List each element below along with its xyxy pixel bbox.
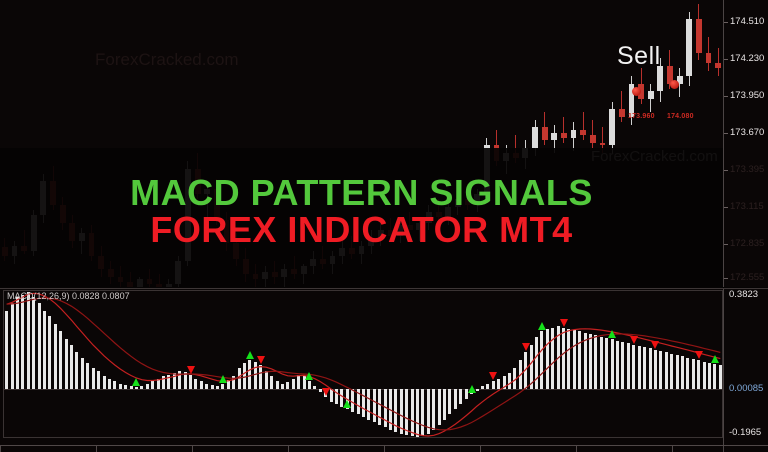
macd-histogram-bar [649, 348, 652, 389]
macd-histogram-bar [546, 329, 549, 389]
macd-histogram-bar [65, 339, 68, 389]
macd-histogram-bar [292, 379, 295, 389]
price-scale-axis[interactable]: 174.510174.230173.950173.670173.395173.1… [723, 0, 768, 287]
candle-body [696, 19, 702, 52]
sell-signal-dot [632, 87, 641, 96]
macd-histogram-bar [557, 326, 560, 389]
sell-signal-dot [670, 80, 679, 89]
time-axis-tick [0, 446, 1, 452]
macd-histogram-bar [513, 368, 516, 389]
macd-histogram-bar [308, 381, 311, 389]
macd-histogram-bar [686, 358, 689, 389]
macd-buy-arrow [305, 372, 313, 380]
macd-histogram-bar [108, 379, 111, 389]
macd-histogram-bar [313, 386, 316, 389]
macd-histogram-bar [162, 376, 165, 389]
time-axis-tick [96, 446, 97, 452]
macd-sell-arrow [630, 336, 638, 344]
macd-histogram-bar [627, 343, 630, 389]
macd-scale-label: -0.1965 [729, 427, 761, 438]
price-tick [724, 170, 728, 171]
candle-wick [592, 120, 593, 148]
macd-histogram-bar [524, 352, 527, 389]
macd-histogram-bar [540, 331, 543, 389]
time-axis-tick [384, 446, 385, 452]
macd-histogram-bar [362, 389, 365, 417]
macd-histogram-bar [92, 368, 95, 389]
macd-sell-arrow [187, 366, 195, 374]
macd-buy-arrow [538, 322, 546, 330]
macd-histogram-bar [594, 335, 597, 389]
macd-histogram-bar [70, 345, 73, 389]
macd-histogram-bar [227, 380, 230, 389]
macd-histogram-bar [584, 333, 587, 389]
macd-buy-arrow [468, 385, 476, 393]
macd-histogram-bar [48, 316, 51, 389]
macd-histogram-bar [616, 341, 619, 389]
macd-histogram-bar [238, 368, 241, 389]
macd-histogram-bar [200, 381, 203, 389]
candle-body [619, 109, 625, 117]
macd-indicator-label: MACD(12,26,9) 0.0828 0.0807 [7, 291, 130, 301]
price-tick [724, 96, 728, 97]
macd-histogram-bar [459, 389, 462, 404]
macd-sell-arrow [257, 356, 265, 364]
macd-histogram-bar [16, 297, 19, 389]
macd-histogram-bar [448, 389, 451, 414]
macd-histogram-bar [378, 389, 381, 425]
macd-histogram-bar [178, 371, 181, 389]
macd-histogram-bar [335, 389, 338, 404]
candle-body [600, 143, 606, 146]
macd-histogram-bar [405, 389, 408, 435]
time-axis [0, 445, 768, 452]
time-axis-tick [576, 446, 577, 452]
macd-histogram-bar [530, 345, 533, 389]
macd-histogram-bar [297, 375, 300, 389]
macd-histogram-bar [621, 342, 624, 389]
macd-histogram-bar [676, 355, 679, 389]
macd-histogram-bar [389, 389, 392, 430]
macd-scale-axis[interactable]: 0.38230.00085-0.1965 [723, 289, 768, 452]
macd-buy-arrow [132, 378, 140, 386]
macd-histogram-bar [211, 385, 214, 389]
macd-histogram-bar [476, 389, 479, 391]
candle-body [580, 130, 586, 135]
macd-histogram-bar [659, 351, 662, 389]
macd-histogram-bar [400, 389, 403, 434]
price-tick [724, 59, 728, 60]
macd-sell-arrow [489, 372, 497, 380]
macd-histogram-bar [573, 330, 576, 389]
watermark-top-left: ForexCracked.com [95, 50, 239, 70]
macd-histogram-bar [97, 371, 100, 389]
candle-body [715, 63, 721, 68]
macd-buy-arrow [343, 400, 351, 408]
price-scale-label: 172.555 [730, 272, 764, 283]
candle-body [686, 19, 692, 76]
macd-histogram-bar [270, 376, 273, 389]
macd-histogram-bar [643, 347, 646, 389]
macd-scale-label: 0.00085 [729, 383, 763, 394]
macd-sell-arrow [522, 343, 530, 351]
macd-buy-arrow [246, 351, 254, 359]
macd-histogram-bar [551, 328, 554, 389]
macd-histogram-bar [394, 389, 397, 432]
macd-histogram-bar [286, 382, 289, 389]
candle-body [551, 133, 557, 141]
candle-body [571, 130, 577, 138]
macd-histogram-bar [135, 387, 138, 389]
candle-wick [583, 112, 584, 140]
macd-histogram-bar [146, 384, 149, 389]
macd-histogram-bar [32, 297, 35, 389]
macd-histogram-bar [216, 386, 219, 389]
macd-histogram-bar [373, 389, 376, 422]
macd-histogram-bar [562, 328, 565, 389]
macd-histogram-bar [443, 389, 446, 420]
macd-histogram-bar [454, 389, 457, 409]
macd-histogram-bar [486, 384, 489, 389]
candle-body [561, 133, 567, 138]
macd-histogram-bar [38, 303, 41, 389]
title-line-1: MACD PATTERN SIGNALS [0, 175, 723, 212]
macd-sell-arrow [322, 388, 330, 396]
title-block: MACD PATTERN SIGNALS FOREX INDICATOR MT4 [0, 175, 723, 248]
macd-histogram-bar [113, 381, 116, 389]
candle-body [532, 127, 538, 148]
macd-histogram-bar [221, 384, 224, 389]
macd-histogram-bar [357, 389, 360, 414]
candle-body [542, 127, 548, 140]
title-line-2: FOREX INDICATOR MT4 [0, 212, 723, 249]
macd-histogram-bar [54, 324, 57, 389]
macd-histogram-bar [411, 389, 414, 436]
macd-histogram-bar [708, 363, 711, 389]
macd-histogram-bar [719, 365, 722, 389]
price-scale-label: 174.230 [730, 53, 764, 64]
candle-wick [718, 48, 719, 76]
macd-histogram-bar [535, 337, 538, 389]
macd-histogram-bar [330, 389, 333, 402]
macd-histogram-bar [243, 363, 246, 389]
macd-histogram-bar [21, 295, 24, 389]
macd-histogram-bar [157, 379, 160, 389]
macd-histogram-bar [654, 350, 657, 389]
candle-body [706, 53, 712, 63]
macd-histogram-bar [232, 376, 235, 389]
macd-plot[interactable] [4, 289, 723, 439]
macd-histogram-bar [692, 359, 695, 389]
price-scale-label: 173.950 [730, 90, 764, 101]
macd-histogram-bar [248, 360, 251, 389]
macd-sell-arrow [695, 351, 703, 359]
macd-histogram-bar [59, 331, 62, 389]
macd-histogram-bar [665, 352, 668, 389]
macd-indicator-panel[interactable]: 0.38230.00085-0.1965 [0, 288, 768, 452]
price-scale-label: 174.510 [730, 16, 764, 27]
macd-histogram-bar [276, 381, 279, 389]
candle-body [590, 135, 596, 143]
candlestick-plot[interactable]: 173.960174.080 ForexCracked.com ForexCra… [0, 0, 723, 287]
macd-histogram-bar [567, 329, 570, 389]
macd-histogram-bar [140, 386, 143, 389]
macd-histogram-bar [605, 338, 608, 389]
macd-histogram-bar [713, 364, 716, 389]
price-scale-label: 173.670 [730, 127, 764, 138]
macd-histogram-bar [600, 337, 603, 389]
macd-scale-label: 0.3823 [729, 289, 758, 300]
candle-body [609, 109, 615, 145]
price-tick [724, 133, 728, 134]
macd-buy-arrow [711, 355, 719, 363]
price-tick [724, 278, 728, 279]
macd-histogram-bar [75, 352, 78, 389]
macd-histogram-bar [492, 381, 495, 389]
macd-histogram-bar [384, 389, 387, 427]
macd-histogram-bar [481, 386, 484, 389]
macd-histogram-bar [184, 372, 187, 389]
macd-histogram-bar [167, 375, 170, 389]
macd-buy-arrow [608, 330, 616, 338]
time-axis-tick [672, 446, 673, 452]
price-tick [724, 22, 728, 23]
macd-histogram-bar [427, 389, 430, 434]
macd-histogram-bar [611, 339, 614, 389]
macd-histogram-bar [27, 292, 30, 389]
macd-histogram-bar [519, 360, 522, 389]
macd-histogram-bar [697, 360, 700, 389]
macd-histogram-bar [508, 373, 511, 389]
sell-price-tag: 174.080 [667, 113, 694, 120]
price-chart-panel[interactable]: 173.960174.080 ForexCracked.com ForexCra… [0, 0, 768, 287]
macd-histogram-bar [438, 389, 441, 425]
macd-histogram-bar [416, 389, 419, 437]
macd-histogram-bar [638, 346, 641, 389]
macd-histogram-bar [151, 381, 154, 389]
macd-histogram-bar [703, 362, 706, 389]
macd-histogram-bar [173, 373, 176, 389]
price-tick [724, 244, 728, 245]
candle-body [648, 91, 654, 99]
macd-histogram-bar [503, 376, 506, 389]
macd-histogram-bar [497, 379, 500, 389]
macd-histogram-bar [189, 375, 192, 389]
macd-histogram-bar [681, 356, 684, 389]
macd-histogram-bar [205, 384, 208, 389]
price-scale-label: 172.835 [730, 238, 764, 249]
macd-sell-arrow [651, 341, 659, 349]
macd-histogram-bar [43, 311, 46, 389]
price-scale-label: 173.395 [730, 164, 764, 175]
candle-wick [563, 117, 564, 143]
macd-histogram-bar [81, 358, 84, 389]
macd-histogram-bar [589, 334, 592, 389]
sell-price-tag: 173.960 [628, 113, 655, 120]
macd-histogram-bar [632, 345, 635, 389]
macd-histogram-bar [103, 376, 106, 389]
macd-histogram-bar [119, 384, 122, 389]
macd-histogram-bar [351, 389, 354, 412]
macd-histogram-bar [11, 303, 14, 389]
time-axis-tick [192, 446, 193, 452]
price-tick [724, 207, 728, 208]
macd-histogram-bar [259, 365, 262, 389]
macd-histogram-bar [432, 389, 435, 430]
macd-histogram-bar [421, 389, 424, 436]
time-axis-tick [480, 446, 481, 452]
macd-buy-arrow [219, 375, 227, 383]
macd-histogram-bar [367, 389, 370, 420]
macd-histogram-bar [578, 331, 581, 389]
macd-histogram-bar [670, 354, 673, 389]
time-axis-tick [288, 446, 289, 452]
macd-sell-arrow [560, 319, 568, 327]
sell-signal-label: Sell [617, 42, 661, 71]
price-scale-label: 173.115 [730, 201, 764, 212]
macd-histogram-bar [194, 379, 197, 389]
macd-histogram-bar [281, 384, 284, 389]
macd-histogram-bar [124, 385, 127, 389]
chart-screenshot: 173.960174.080 ForexCracked.com ForexCra… [0, 0, 768, 452]
macd-histogram-bar [265, 371, 268, 389]
macd-histogram-bar [5, 311, 8, 389]
candle-wick [621, 91, 622, 122]
macd-histogram-bar [130, 386, 133, 389]
macd-histogram-bar [86, 363, 89, 389]
macd-histogram-bar [254, 362, 257, 389]
